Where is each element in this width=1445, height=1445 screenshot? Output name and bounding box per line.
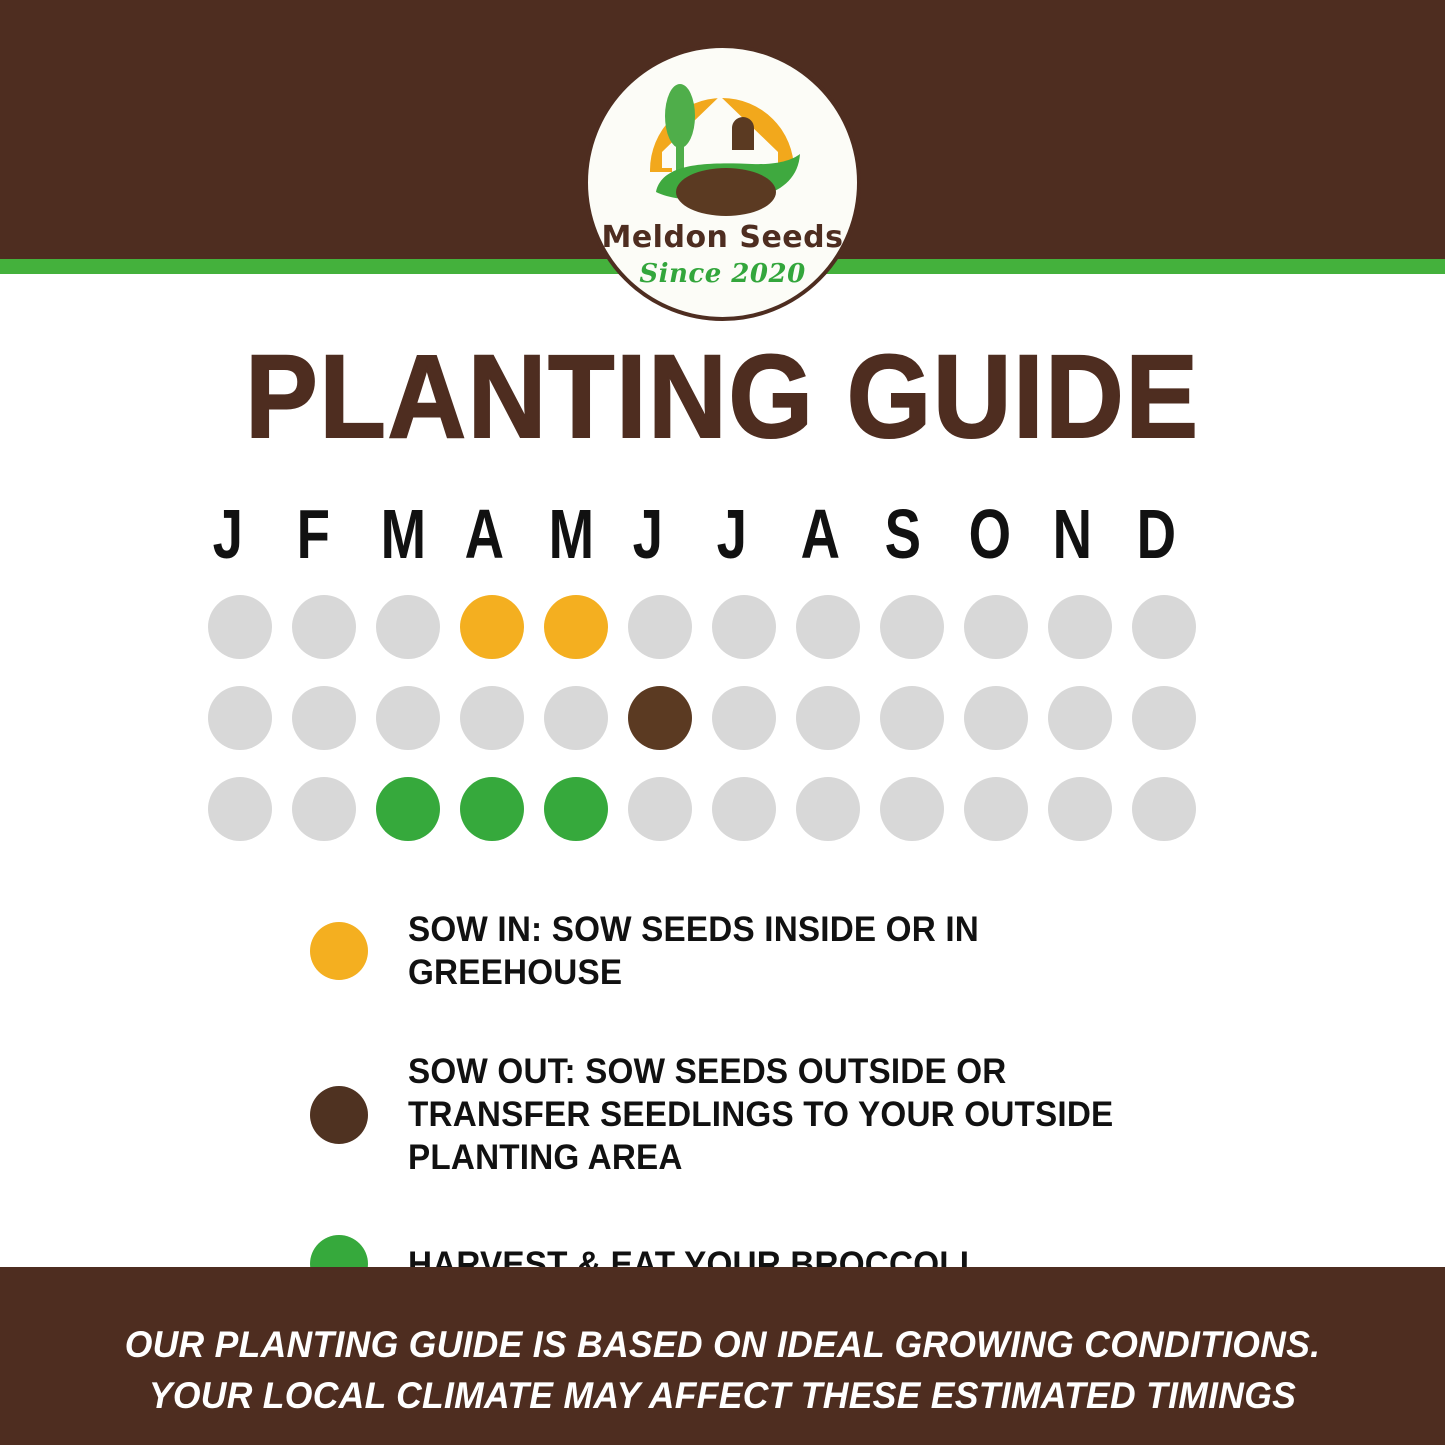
- calendar-dot: [880, 777, 944, 841]
- month-label-apr: A: [460, 498, 526, 570]
- logo-artwork-icon: [632, 68, 814, 218]
- calendar-dot: [880, 686, 944, 750]
- logo-brand-name: Meldon Seeds: [588, 220, 857, 255]
- calendar-dot: [544, 595, 608, 659]
- page-title: PLANTING GUIDE: [58, 338, 1387, 456]
- calendar-dot: [796, 595, 860, 659]
- calendar-dot: [460, 686, 524, 750]
- calendar-dot: [796, 686, 860, 750]
- calendar-dot: [796, 777, 860, 841]
- calendar-row-harvest: [208, 777, 1244, 868]
- calendar-dot: [376, 777, 440, 841]
- calendar-dot: [1048, 595, 1112, 659]
- calendar-dot: [1132, 595, 1196, 659]
- calendar-dot: [376, 686, 440, 750]
- month-label-jul: J: [712, 498, 778, 570]
- legend-item-label: SOW IN: SOW SEEDS INSIDE OR IN GREEHOUSE: [408, 908, 1159, 994]
- calendar-dot: [544, 777, 608, 841]
- legend-item-label: SOW OUT: SOW SEEDS OUTSIDE OR TRANSFER S…: [408, 1050, 1159, 1179]
- calendar-row-sow-out: [208, 686, 1244, 777]
- calendar-dot: [712, 595, 776, 659]
- planting-guide-infographic: Meldon Seeds Since 2020 PLANTING GUIDE J…: [0, 0, 1445, 1445]
- calendar-dot: [712, 686, 776, 750]
- calendar-dot: [964, 595, 1028, 659]
- calendar-dot: [544, 686, 608, 750]
- calendar-dot: [208, 686, 272, 750]
- month-label-feb: F: [292, 498, 358, 570]
- calendar-dot: [880, 595, 944, 659]
- month-label-jan: J: [208, 498, 274, 570]
- calendar-dot: [964, 686, 1028, 750]
- calendar-dot: [1048, 686, 1112, 750]
- calendar-dot: [208, 595, 272, 659]
- month-label-dec: D: [1132, 498, 1198, 570]
- month-label-sep: S: [880, 498, 946, 570]
- footer-line-1: OUR PLANTING GUIDE IS BASED ON IDEAL GRO…: [29, 1319, 1416, 1370]
- legend-item: SOW IN: SOW SEEDS INSIDE OR IN GREEHOUSE: [310, 908, 1210, 994]
- month-label-nov: N: [1048, 498, 1114, 570]
- calendar-dot: [460, 595, 524, 659]
- calendar-dot: [460, 777, 524, 841]
- footer-band: OUR PLANTING GUIDE IS BASED ON IDEAL GRO…: [0, 1267, 1445, 1445]
- month-label-mar: M: [376, 498, 442, 570]
- calendar-dot: [376, 595, 440, 659]
- calendar-dot: [628, 777, 692, 841]
- calendar-dot: [628, 686, 692, 750]
- calendar-dot: [1048, 777, 1112, 841]
- footer-line-2: YOUR LOCAL CLIMATE MAY AFFECT THESE ESTI…: [29, 1370, 1416, 1421]
- footer-disclaimer: OUR PLANTING GUIDE IS BASED ON IDEAL GRO…: [29, 1319, 1416, 1421]
- calendar-dot: [292, 777, 356, 841]
- month-label-jun: J: [628, 498, 694, 570]
- legend-dot-sow-out: [310, 1086, 368, 1144]
- planting-calendar-grid: [208, 595, 1244, 868]
- calendar-dot: [1132, 777, 1196, 841]
- legend-item: SOW OUT: SOW SEEDS OUTSIDE OR TRANSFER S…: [310, 1050, 1210, 1179]
- calendar-dot: [964, 777, 1028, 841]
- legend-dot-sow-in: [310, 922, 368, 980]
- month-label-aug: A: [796, 498, 862, 570]
- logo-tagline: Since 2020: [588, 259, 857, 289]
- calendar-dot: [292, 686, 356, 750]
- calendar-dot: [712, 777, 776, 841]
- brand-logo: Meldon Seeds Since 2020: [584, 44, 861, 321]
- month-label-oct: O: [964, 498, 1030, 570]
- calendar-row-sow-in: [208, 595, 1244, 686]
- calendar-dot: [1132, 686, 1196, 750]
- calendar-dot: [628, 595, 692, 659]
- calendar-dot: [208, 777, 272, 841]
- month-header-row: J F M A M J J A S O N D: [208, 498, 1236, 570]
- calendar-dot: [292, 595, 356, 659]
- month-label-may: M: [544, 498, 610, 570]
